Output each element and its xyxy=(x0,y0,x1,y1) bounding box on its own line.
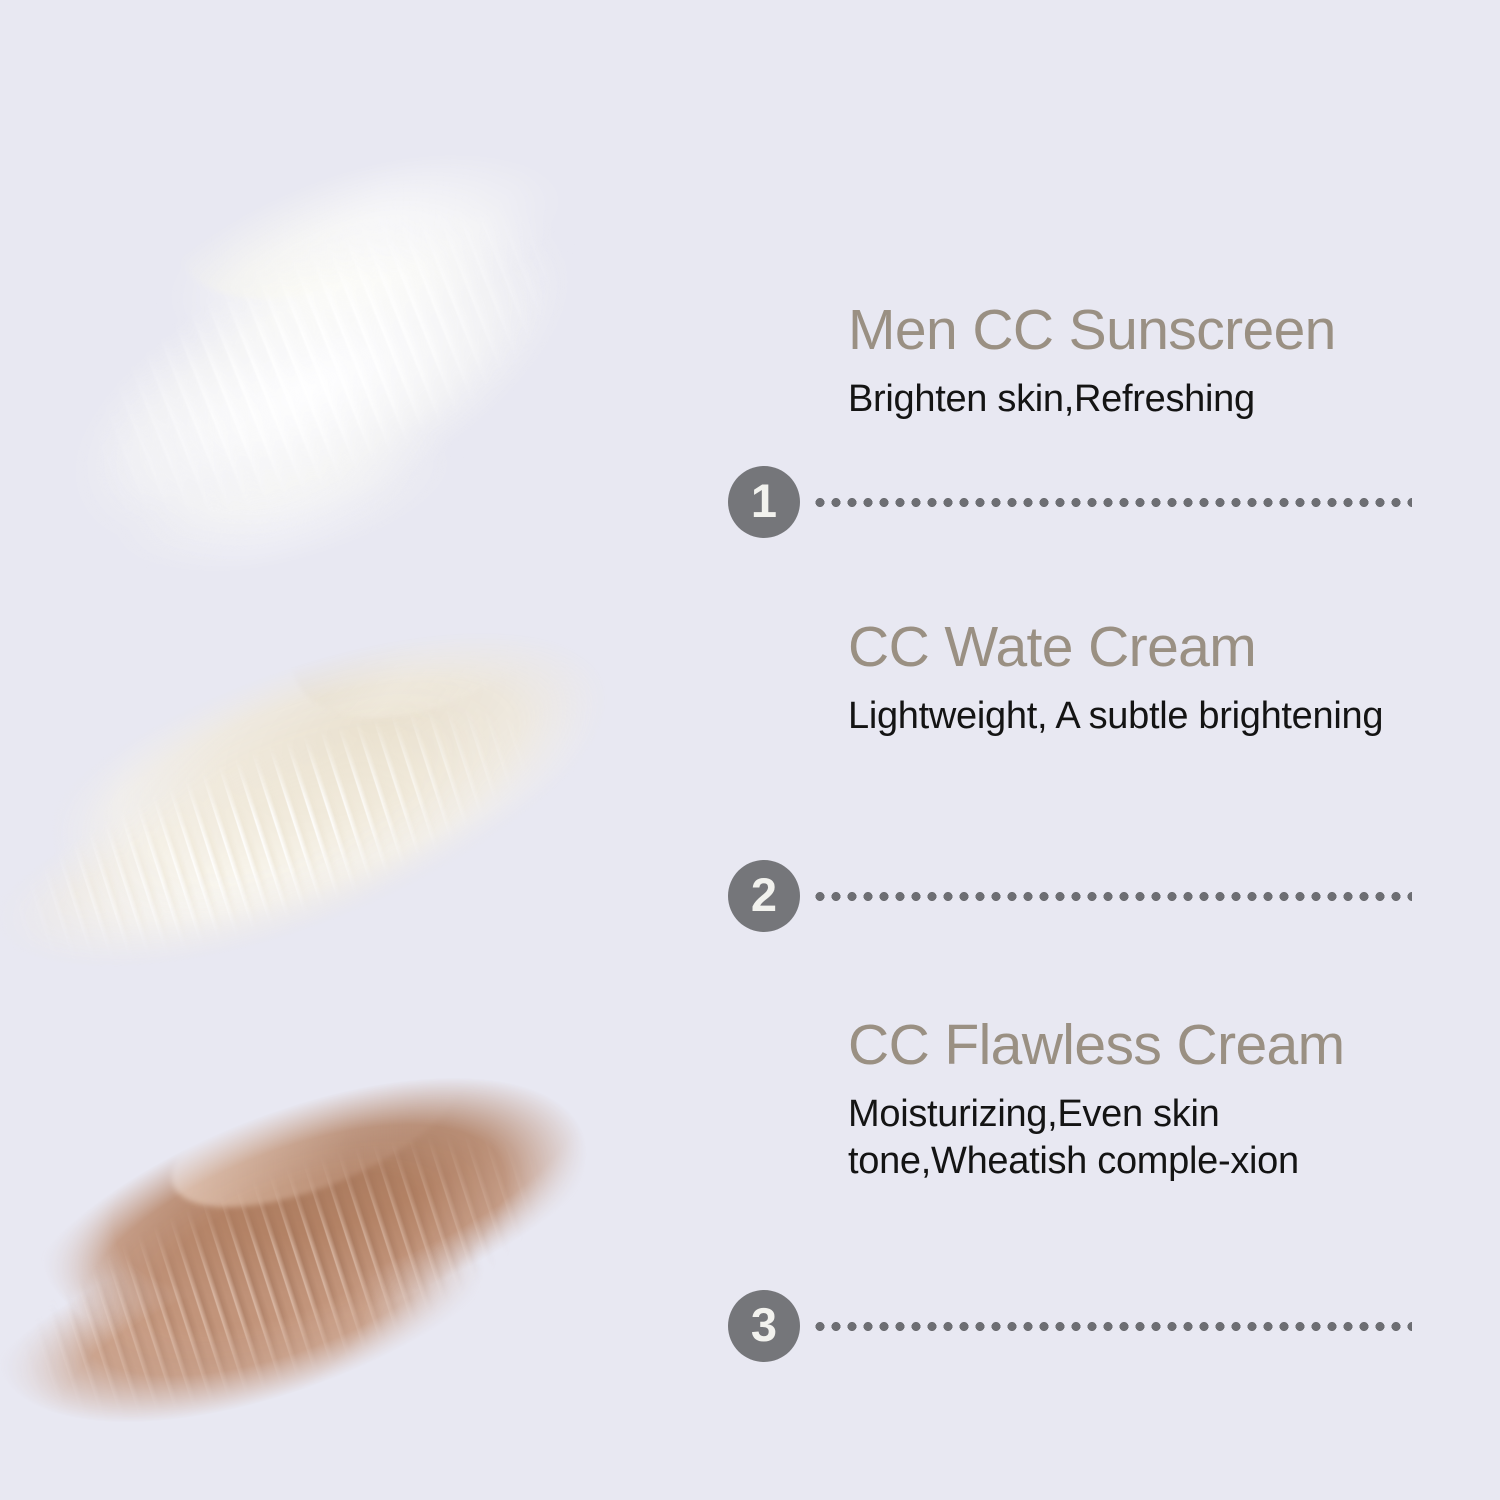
product-title-1: Men CC Sunscreen xyxy=(848,300,1468,362)
clear-gel-swatch xyxy=(0,0,779,804)
product-info-block-2: CC Wate Cream Lightweight, A subtle brig… xyxy=(848,617,1468,740)
product-description-1: Brighten skin,Refreshing xyxy=(848,376,1408,424)
step-number-badge-2: 2 xyxy=(728,860,800,932)
product-infographic: Men CC Sunscreen Brighten skin,Refreshin… xyxy=(0,0,1500,1500)
product-marker-row-1: 1 xyxy=(728,466,1412,538)
swatch-artwork-layer xyxy=(0,0,1500,1500)
product-description-3: Moisturizing,Even skin tone,Wheatish com… xyxy=(848,1091,1408,1187)
tan-cream-swatch xyxy=(0,910,699,1500)
dotted-divider-3 xyxy=(812,1322,1412,1331)
product-marker-row-2: 2 xyxy=(728,860,1412,932)
dotted-divider-1 xyxy=(812,498,1412,507)
product-info-block-3: CC Flawless Cream Moisturizing,Even skin… xyxy=(848,1015,1468,1186)
product-marker-row-3: 3 xyxy=(728,1290,1412,1362)
dotted-divider-2 xyxy=(812,892,1412,901)
step-number-badge-3: 3 xyxy=(728,1290,800,1362)
step-number-badge-1: 1 xyxy=(728,466,800,538)
product-description-2: Lightweight, A subtle brightening xyxy=(848,693,1408,741)
product-info-block-1: Men CC Sunscreen Brighten skin,Refreshin… xyxy=(848,300,1468,423)
product-title-2: CC Wate Cream xyxy=(848,617,1468,679)
product-title-3: CC Flawless Cream xyxy=(848,1015,1468,1077)
beige-cream-swatch xyxy=(0,464,715,1136)
